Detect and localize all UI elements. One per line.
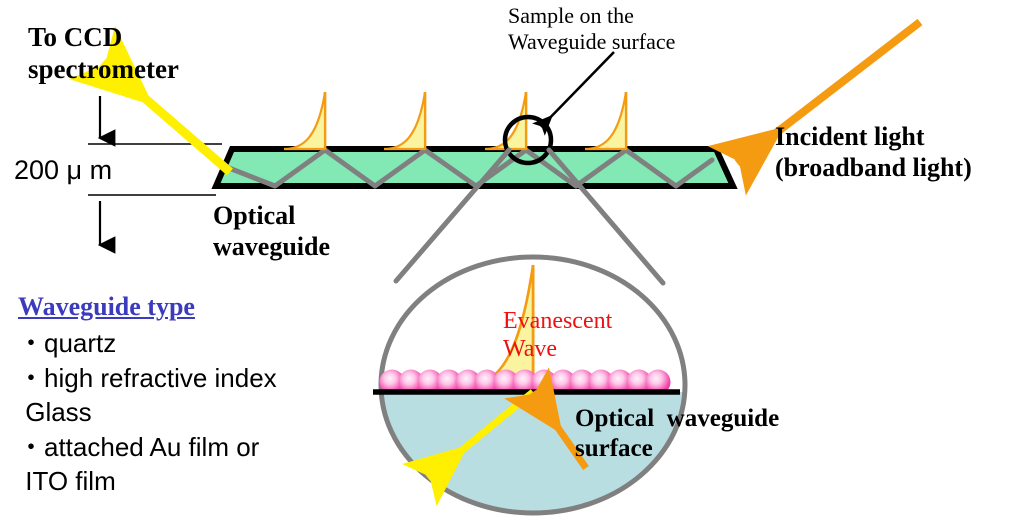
list-item: ・quartz	[18, 326, 277, 361]
label-evanescent-wave: Evanescent Wave	[503, 307, 612, 364]
sample-callout-leader	[541, 52, 614, 127]
magnified-inset	[373, 257, 695, 521]
waveguide-type-heading: Waveguide type	[18, 292, 195, 322]
list-item: ・attached Au film or	[18, 430, 277, 465]
waveguide-type-list: ・quartz ・high refractive index Glass ・at…	[18, 326, 277, 499]
label-incident-light: Incident light (broadband light)	[775, 122, 972, 183]
figure-canvas: To CCD spectrometer 200 μ m Optical wave…	[0, 0, 1024, 521]
waveguide-type-block: Waveguide type ・quartz ・high refractive …	[18, 292, 277, 499]
label-optical-waveguide-surface: Optical waveguide surface	[575, 404, 779, 463]
label-sample-on-waveguide-surface: Sample on the Waveguide surface	[508, 3, 675, 55]
evanescent-spikes	[284, 92, 626, 149]
label-to-ccd-spectrometer: To CCD spectrometer	[28, 22, 179, 86]
label-optical-waveguide: Optical waveguide	[213, 201, 330, 262]
list-item: ITO film	[18, 464, 277, 499]
list-item: ・high refractive index	[18, 361, 277, 396]
list-item: Glass	[18, 395, 277, 430]
label-thickness-200um: 200 μ m	[14, 155, 112, 187]
optical-waveguide-slab	[216, 149, 733, 186]
